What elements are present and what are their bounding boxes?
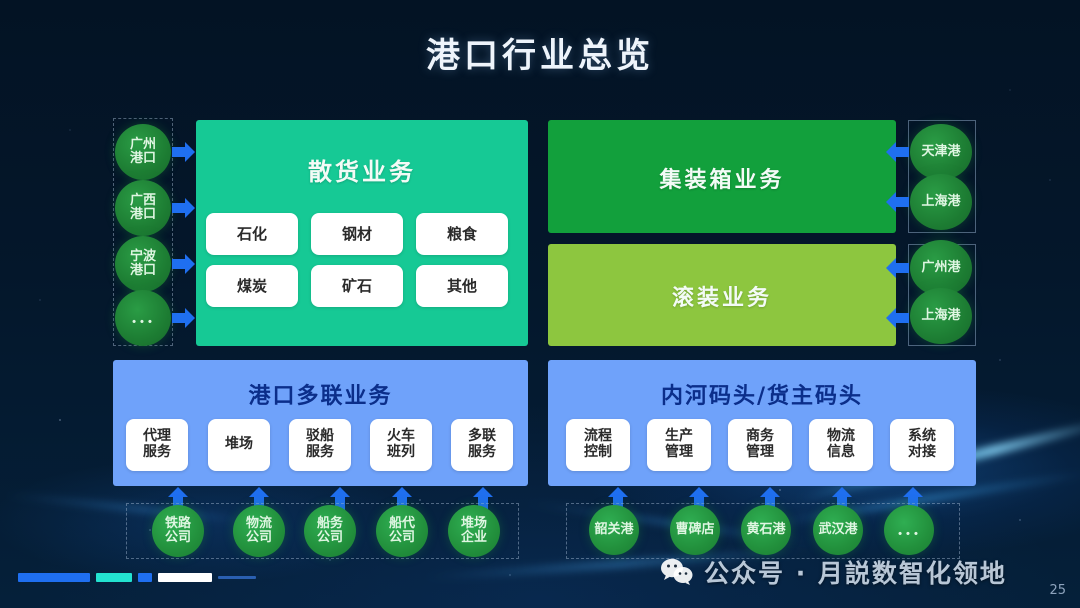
page-title: 港口行业总览 — [0, 28, 1080, 77]
bulk-tag-4[interactable]: 煤炭 — [206, 265, 298, 307]
left-port-circle-1[interactable]: 广州 港口 — [115, 124, 171, 180]
progress-segment-cyan[interactable] — [96, 573, 132, 582]
inland-tag-label: 生产 管理 — [665, 429, 693, 460]
inland-tag-label: 商务 管理 — [746, 429, 774, 460]
container-port-label: 天津港 — [921, 145, 960, 159]
container-business-panel[interactable]: 集装箱业务 — [548, 120, 896, 233]
roro-port-circle-2[interactable]: 上海港 — [910, 288, 972, 344]
bulk-tag-3[interactable]: 粮食 — [416, 213, 508, 255]
inland-tag-3[interactable]: 商务 管理 — [728, 419, 792, 471]
multimodal-tag-label: 堆场 — [225, 437, 253, 453]
bulk-tag-2[interactable]: 钢材 — [311, 213, 403, 255]
container-port-label: 上海港 — [921, 195, 960, 209]
multimodal-tag-3[interactable]: 驳船 服务 — [289, 419, 351, 471]
inland-terminal-title: 内河码头/货主码头 — [548, 378, 976, 410]
bulk-tag-label: 钢材 — [342, 226, 372, 243]
multimodal-partner-1[interactable]: 铁路 公司 — [152, 505, 204, 557]
partner-label: 武汉港 — [818, 523, 857, 537]
partner-label: 韶关港 — [594, 523, 633, 537]
partner-label: ... — [897, 521, 921, 540]
left-port-circle-2[interactable]: 广西 港口 — [115, 180, 171, 236]
bulk-business-title: 散货业务 — [196, 152, 528, 187]
partner-label: 黄石港 — [746, 523, 785, 537]
multimodal-partner-2[interactable]: 物流 公司 — [233, 505, 285, 557]
bulk-tag-1[interactable]: 石化 — [206, 213, 298, 255]
inland-tag-4[interactable]: 物流 信息 — [809, 419, 873, 471]
watermark: 公众号 · 月説数智化领地 — [660, 554, 1007, 590]
container-port-circle-1[interactable]: 天津港 — [910, 124, 972, 180]
progress-segment-blue-small[interactable] — [138, 573, 152, 582]
inland-partner-2[interactable]: 曹碑店 — [670, 505, 720, 555]
arrow-left-port-2 — [172, 203, 186, 213]
inland-tag-2[interactable]: 生产 管理 — [647, 419, 711, 471]
roro-port-label: 上海港 — [921, 309, 960, 323]
arrow-left-port-1 — [172, 147, 186, 157]
multimodal-partner-4[interactable]: 船代 公司 — [376, 505, 428, 557]
roro-business-title: 滚装业务 — [548, 280, 896, 312]
multimodal-tag-1[interactable]: 代理 服务 — [126, 419, 188, 471]
bulk-tag-label: 其他 — [447, 278, 477, 295]
bulk-tag-label: 煤炭 — [237, 278, 267, 295]
left-port-circle-3[interactable]: 宁波 港口 — [115, 236, 171, 292]
inland-partner-4[interactable]: 武汉港 — [813, 505, 863, 555]
inland-tag-label: 物流 信息 — [827, 429, 855, 460]
multimodal-partner-3[interactable]: 船务 公司 — [304, 505, 356, 557]
watermark-text: 公众号 · 月説数智化领地 — [704, 554, 1007, 590]
multimodal-tag-2[interactable]: 堆场 — [208, 419, 270, 471]
partner-label: 物流 公司 — [246, 517, 272, 546]
bulk-tag-label: 矿石 — [342, 278, 372, 295]
multimodal-tag-label: 火车 班列 — [387, 429, 415, 460]
left-port-label: ... — [131, 309, 155, 328]
multimodal-partner-5[interactable]: 堆场 企业 — [448, 505, 500, 557]
arrow-left-port-4 — [172, 313, 186, 323]
container-business-title: 集装箱业务 — [548, 162, 896, 194]
left-port-label: 广州 港口 — [130, 138, 156, 167]
inland-tag-label: 流程 控制 — [584, 429, 612, 460]
inland-partner-3[interactable]: 黄石港 — [741, 505, 791, 555]
multimodal-tag-4[interactable]: 火车 班列 — [370, 419, 432, 471]
inland-partner-1[interactable]: 韶关港 — [589, 505, 639, 555]
roro-port-label: 广州港 — [921, 261, 960, 275]
arrow-roro-port-2 — [895, 313, 909, 323]
container-port-circle-2[interactable]: 上海港 — [910, 174, 972, 230]
bulk-tag-label: 石化 — [237, 226, 267, 243]
partner-label: 堆场 企业 — [461, 517, 487, 546]
bulk-tag-label: 粮食 — [447, 226, 477, 243]
slide-canvas: 港口行业总览 广州 港口 广西 港口 宁波 港口 ... 散货业务 石化 钢材 … — [0, 0, 1080, 608]
roro-business-panel[interactable]: 滚装业务 — [548, 244, 896, 346]
arrow-container-port-2 — [895, 197, 909, 207]
partner-label: 船代 公司 — [389, 517, 415, 546]
inland-partner-5[interactable]: ... — [884, 505, 934, 555]
multimodal-tag-5[interactable]: 多联 服务 — [451, 419, 513, 471]
inland-tag-label: 系统 对接 — [908, 429, 936, 460]
partner-label: 船务 公司 — [317, 517, 343, 546]
left-port-circle-4[interactable]: ... — [115, 290, 171, 346]
partner-label: 铁路 公司 — [165, 517, 191, 546]
left-port-label: 广西 港口 — [130, 194, 156, 223]
progress-segment-white[interactable] — [158, 573, 212, 582]
inland-tag-1[interactable]: 流程 控制 — [566, 419, 630, 471]
arrow-left-port-3 — [172, 259, 186, 269]
multimodal-tag-label: 代理 服务 — [143, 429, 171, 460]
multimodal-business-title: 港口多联业务 — [113, 378, 528, 410]
bulk-tag-6[interactable]: 其他 — [416, 265, 508, 307]
arrow-container-port-1 — [895, 147, 909, 157]
progress-indicator[interactable] — [18, 573, 262, 582]
wechat-icon — [660, 557, 694, 587]
progress-segment-blue[interactable] — [18, 573, 90, 582]
multimodal-tag-label: 多联 服务 — [468, 429, 496, 460]
bulk-tag-5[interactable]: 矿石 — [311, 265, 403, 307]
progress-segment-line — [218, 576, 256, 579]
inland-tag-5[interactable]: 系统 对接 — [890, 419, 954, 471]
partner-label: 曹碑店 — [675, 523, 714, 537]
arrow-roro-port-1 — [895, 263, 909, 273]
left-port-label: 宁波 港口 — [130, 250, 156, 279]
multimodal-tag-label: 驳船 服务 — [306, 429, 334, 460]
page-number: 25 — [1049, 583, 1066, 598]
